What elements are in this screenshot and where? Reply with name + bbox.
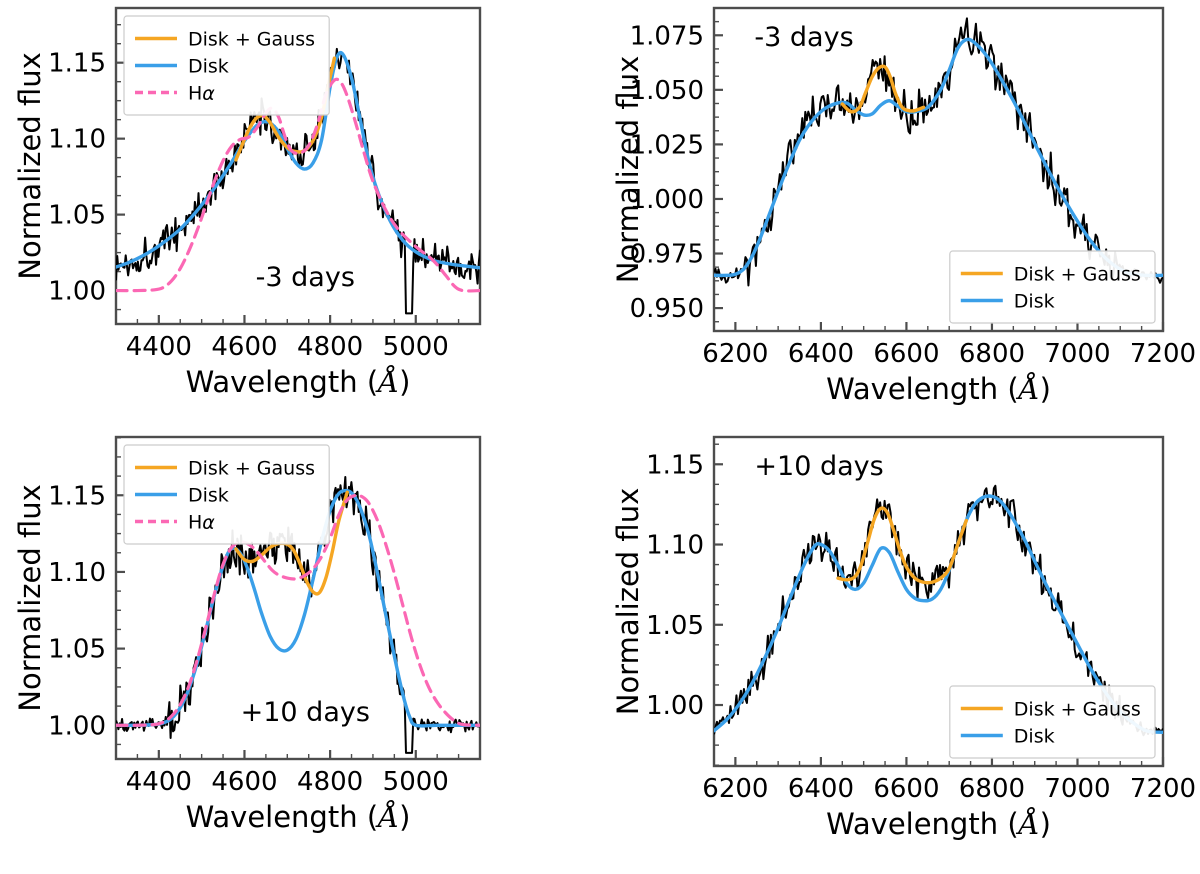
plot-frame bbox=[714, 8, 1163, 331]
spectral-fit-figure: 44004600480050001.001.051.101.15Waveleng… bbox=[0, 0, 1200, 874]
y-tick-label: 0.950 bbox=[630, 294, 704, 324]
y-tick-label: 1.10 bbox=[48, 558, 106, 588]
x-tick-label: 4800 bbox=[297, 332, 363, 362]
x-tick-label: 6400 bbox=[788, 774, 854, 804]
x-tick-label: 4600 bbox=[211, 767, 277, 797]
axis-ticks bbox=[116, 438, 480, 759]
x-tick-label: 4400 bbox=[126, 332, 192, 362]
x-tick-label: 6600 bbox=[873, 339, 939, 369]
y-tick-label: 1.15 bbox=[48, 49, 106, 79]
series-disk-gauss bbox=[236, 58, 334, 160]
y-tick-label: 1.050 bbox=[630, 76, 704, 106]
legend: Disk + GaussDiskHα bbox=[124, 445, 329, 544]
y-axis-title: Normalized flux bbox=[611, 56, 645, 283]
legend: Disk + GaussDisk bbox=[950, 686, 1155, 758]
chart-panel-top-left: 44004600480050001.001.051.101.15Waveleng… bbox=[0, 0, 1200, 874]
legend-label: Disk + Gauss bbox=[1014, 699, 1141, 721]
x-tick-label: 4800 bbox=[297, 767, 363, 797]
y-tick-label: 0.975 bbox=[630, 240, 704, 270]
legend-label: Disk bbox=[188, 56, 229, 78]
panel-annotation: -3 days bbox=[256, 262, 355, 293]
x-tick-label: 7200 bbox=[1130, 339, 1196, 369]
chart-panel-top-right: 6200640066006800700072000.9500.9751.0001… bbox=[0, 0, 1200, 874]
legend: Disk + GaussDiskHα bbox=[124, 16, 329, 115]
y-tick-label: 1.05 bbox=[646, 611, 704, 641]
panel-annotation: +10 days bbox=[754, 451, 883, 482]
x-tick-label: 5000 bbox=[383, 332, 449, 362]
chart-panel-bottom-left: 44004600480050001.001.051.101.15Waveleng… bbox=[0, 0, 1200, 874]
series-h bbox=[116, 79, 480, 291]
y-tick-label: 1.05 bbox=[48, 201, 106, 231]
x-tick-label: 7000 bbox=[1044, 774, 1110, 804]
series-disk bbox=[714, 39, 1163, 275]
series-disk-gauss bbox=[838, 508, 966, 583]
y-axis-title: Normalized flux bbox=[13, 484, 47, 711]
legend-label: Hα bbox=[188, 512, 215, 534]
y-tick-label: 1.075 bbox=[630, 21, 704, 51]
x-tick-label: 6800 bbox=[959, 339, 1025, 369]
y-tick-label: 1.00 bbox=[48, 277, 106, 307]
x-tick-label: 4600 bbox=[211, 332, 277, 362]
chart-panel-bottom-right: 6200640066006800700072001.001.051.101.15… bbox=[0, 0, 1200, 874]
panel-annotation: +10 days bbox=[241, 697, 370, 728]
series-observed-spectrum bbox=[116, 477, 480, 753]
series-disk bbox=[714, 496, 1163, 732]
legend-label: Disk bbox=[1014, 291, 1055, 313]
legend-label: Disk bbox=[188, 485, 229, 507]
axis-ticks bbox=[714, 444, 1163, 766]
x-tick-label: 6200 bbox=[702, 774, 768, 804]
y-tick-label: 1.15 bbox=[48, 481, 106, 511]
y-tick-label: 1.025 bbox=[630, 130, 704, 160]
legend: Disk + GaussDisk bbox=[950, 251, 1155, 323]
plot-frame bbox=[116, 8, 480, 324]
y-tick-label: 1.00 bbox=[48, 711, 106, 741]
series-h bbox=[116, 495, 480, 725]
legend-label: Hα bbox=[188, 83, 215, 105]
x-tick-label: 6200 bbox=[702, 339, 768, 369]
axis-ticks bbox=[714, 22, 1163, 331]
x-tick-label: 6800 bbox=[959, 774, 1025, 804]
series-disk bbox=[116, 491, 480, 726]
y-tick-label: 1.00 bbox=[646, 691, 704, 721]
legend-label: Disk + Gauss bbox=[188, 29, 315, 51]
y-tick-label: 1.000 bbox=[630, 185, 704, 215]
y-axis-title: Normalized flux bbox=[611, 488, 645, 715]
y-axis-title: Normalized flux bbox=[13, 52, 47, 279]
series-observed-spectrum bbox=[714, 18, 1163, 285]
x-tick-label: 7000 bbox=[1044, 339, 1110, 369]
series-disk bbox=[116, 53, 480, 268]
y-tick-label: 1.10 bbox=[48, 125, 106, 155]
x-tick-label: 5000 bbox=[383, 767, 449, 797]
x-axis-title: Wavelength (Å) bbox=[826, 371, 1051, 406]
x-axis-title: Wavelength (Å) bbox=[186, 364, 411, 399]
legend-label: Disk + Gauss bbox=[188, 458, 315, 480]
x-tick-label: 7200 bbox=[1130, 774, 1196, 804]
y-tick-label: 1.10 bbox=[646, 531, 704, 561]
x-tick-label: 6600 bbox=[873, 774, 939, 804]
series-observed-spectrum bbox=[714, 486, 1163, 735]
x-tick-label: 4400 bbox=[126, 767, 192, 797]
y-tick-label: 1.05 bbox=[48, 635, 106, 665]
series-disk-gauss bbox=[236, 492, 347, 594]
legend-label: Disk bbox=[1014, 726, 1055, 748]
plot-frame bbox=[116, 437, 480, 759]
x-tick-label: 6400 bbox=[788, 339, 854, 369]
series-disk-gauss bbox=[842, 66, 923, 112]
plot-frame bbox=[714, 437, 1163, 766]
y-tick-label: 1.15 bbox=[646, 450, 704, 480]
series-observed-spectrum bbox=[116, 49, 480, 313]
legend-label: Disk + Gauss bbox=[1014, 264, 1141, 286]
x-axis-title: Wavelength (Å) bbox=[826, 806, 1051, 841]
x-axis-title: Wavelength (Å) bbox=[186, 799, 411, 834]
panel-annotation: -3 days bbox=[754, 22, 853, 53]
axis-ticks bbox=[116, 25, 480, 324]
